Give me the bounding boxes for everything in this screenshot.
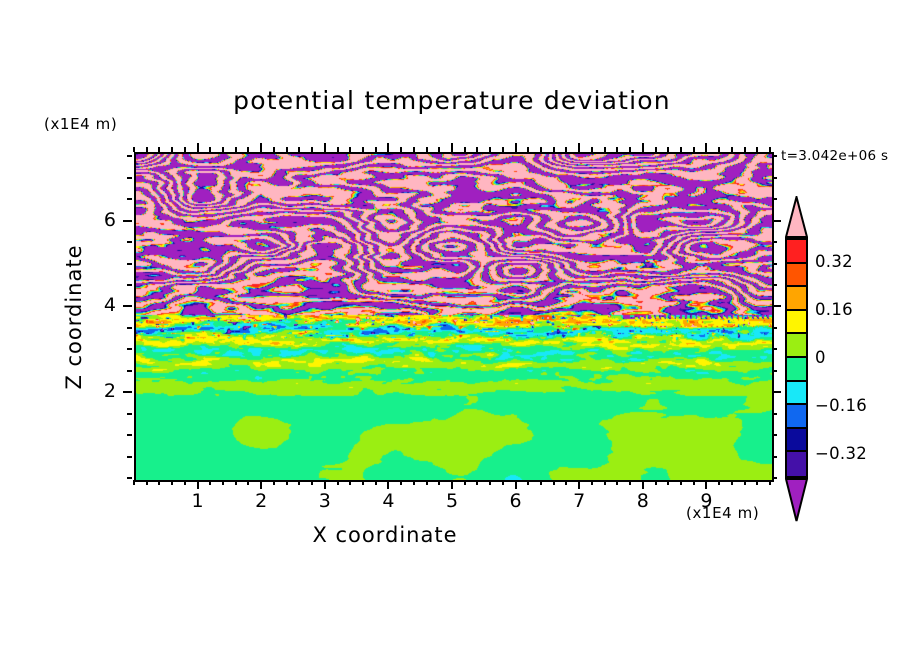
x-axis-minor-tick <box>489 480 491 485</box>
x-axis-minor-tick-top <box>476 147 478 152</box>
x-axis-minor-tick-top <box>591 147 593 152</box>
x-axis-major-tick-top <box>197 143 199 152</box>
x-axis-minor-tick-top <box>629 147 631 152</box>
y-axis-tick-label: 2 <box>86 380 116 402</box>
x-axis-minor-tick-top <box>527 147 529 152</box>
page-title: potential temperature deviation <box>0 86 904 115</box>
x-axis-major-tick <box>705 480 707 489</box>
x-axis-title: X coordinate <box>0 523 770 547</box>
y-axis-major-tick-right <box>772 391 781 393</box>
x-axis-minor-tick <box>553 480 555 485</box>
x-axis-minor-tick-top <box>184 147 186 152</box>
y-axis-title: Z coordinate <box>62 217 86 417</box>
y-axis-minor-tick-right <box>772 241 777 243</box>
x-axis-minor-tick-top <box>464 147 466 152</box>
x-axis-minor-tick <box>565 480 567 485</box>
x-axis-tick-label: 2 <box>246 490 276 512</box>
x-axis-minor-tick-top <box>426 147 428 152</box>
x-axis-major-tick <box>260 480 262 489</box>
x-axis-tick-label: 5 <box>437 490 467 512</box>
y-axis-minor-tick-right <box>772 434 777 436</box>
x-axis-minor-tick <box>604 480 606 485</box>
x-axis-major-tick <box>324 480 326 489</box>
y-axis-minor-tick-right <box>772 348 777 350</box>
x-axis-tick-label: 6 <box>501 490 531 512</box>
y-axis-minor-tick-right <box>772 284 777 286</box>
y-axis-minor-tick-right <box>772 155 777 157</box>
x-axis-major-tick-top <box>324 143 326 152</box>
y-axis-minor-tick <box>127 263 132 265</box>
x-axis-minor-tick <box>375 480 377 485</box>
y-axis-minor-tick-right <box>772 456 777 458</box>
x-axis-minor-tick <box>209 480 211 485</box>
time-annotation: t=3.042e+06 s <box>781 148 888 164</box>
x-axis-major-tick <box>642 480 644 489</box>
y-axis-minor-tick <box>127 327 132 329</box>
colorbar-band <box>787 264 806 288</box>
x-axis-minor-tick <box>680 480 682 485</box>
x-axis-minor-tick-top <box>298 147 300 152</box>
x-axis-major-tick-top <box>387 143 389 152</box>
x-axis-minor-tick <box>667 480 669 485</box>
y-axis-minor-tick <box>127 413 132 415</box>
x-axis-minor-tick-top <box>146 147 148 152</box>
x-axis-minor-tick <box>426 480 428 485</box>
x-axis-minor-tick <box>298 480 300 485</box>
colorbar-band <box>787 358 806 382</box>
x-axis-minor-tick-top <box>171 147 173 152</box>
x-axis-minor-tick <box>133 480 135 485</box>
x-axis-minor-tick <box>540 480 542 485</box>
y-axis-minor-tick <box>127 177 132 179</box>
y-axis-minor-tick-right <box>772 413 777 415</box>
x-axis-minor-tick <box>413 480 415 485</box>
x-axis-minor-tick <box>438 480 440 485</box>
x-axis-minor-tick-top <box>286 147 288 152</box>
y-axis-minor-tick-right <box>772 263 777 265</box>
colorbar-band <box>787 452 806 476</box>
y-axis-minor-tick <box>127 241 132 243</box>
x-axis-minor-tick <box>146 480 148 485</box>
colorbar-tick-label: −0.16 <box>815 396 867 415</box>
x-axis-minor-tick-top <box>769 147 771 152</box>
x-axis-minor-tick <box>744 480 746 485</box>
y-axis-minor-tick-right <box>772 370 777 372</box>
x-axis-minor-tick <box>616 480 618 485</box>
y-axis-major-tick <box>123 391 132 393</box>
y-axis-major-tick <box>123 305 132 307</box>
x-axis-minor-tick-top <box>718 147 720 152</box>
x-axis-tick-label: 4 <box>373 490 403 512</box>
y-axis-minor-tick-right <box>772 177 777 179</box>
x-axis-minor-tick <box>756 480 758 485</box>
x-axis-minor-tick-top <box>273 147 275 152</box>
colorbar-tick-label: 0.16 <box>815 300 853 319</box>
x-axis-minor-tick <box>311 480 313 485</box>
x-axis-minor-tick-top <box>362 147 364 152</box>
colorbar-band <box>787 405 806 429</box>
colorbar-bands <box>785 238 808 478</box>
colorbar-under-arrow-icon <box>785 478 808 522</box>
x-axis-minor-tick <box>362 480 364 485</box>
x-axis-minor-tick-top <box>349 147 351 152</box>
x-axis-minor-tick-top <box>413 147 415 152</box>
x-axis-minor-tick-top <box>540 147 542 152</box>
x-axis-minor-tick <box>235 480 237 485</box>
y-axis-minor-tick <box>127 198 132 200</box>
y-axis-minor-tick-right <box>772 327 777 329</box>
heatmap-field <box>136 154 772 480</box>
x-axis-minor-tick <box>591 480 593 485</box>
y-axis-minor-tick <box>127 456 132 458</box>
colorbar-band <box>787 382 806 406</box>
x-axis-minor-tick <box>769 480 771 485</box>
x-axis-minor-tick <box>273 480 275 485</box>
colorbar-band <box>787 240 806 264</box>
x-axis-minor-tick-top <box>158 147 160 152</box>
x-axis-minor-tick-top <box>680 147 682 152</box>
x-axis-major-tick <box>197 480 199 489</box>
x-axis-minor-tick <box>655 480 657 485</box>
colorbar-band <box>787 429 806 453</box>
x-axis-minor-tick <box>693 480 695 485</box>
x-axis-minor-tick-top <box>553 147 555 152</box>
x-axis-minor-tick <box>400 480 402 485</box>
x-axis-minor-tick-top <box>667 147 669 152</box>
x-axis-minor-tick-top <box>655 147 657 152</box>
y-axis-major-tick <box>123 220 132 222</box>
x-axis-major-tick-top <box>578 143 580 152</box>
x-axis-minor-tick <box>349 480 351 485</box>
x-axis-tick-label: 1 <box>183 490 213 512</box>
x-axis-minor-tick <box>731 480 733 485</box>
colorbar-band <box>787 287 806 311</box>
x-axis-minor-tick-top <box>489 147 491 152</box>
y-axis-minor-tick <box>127 477 132 479</box>
x-axis-minor-tick <box>158 480 160 485</box>
x-axis-minor-tick-top <box>693 147 695 152</box>
y-axis-tick-label: 4 <box>86 294 116 316</box>
x-axis-minor-tick-top <box>235 147 237 152</box>
x-axis-minor-tick-top <box>209 147 211 152</box>
x-axis-minor-tick-top <box>133 147 135 152</box>
y-axis-unit-label: (x1E4 m) <box>44 115 117 133</box>
x-axis-minor-tick-top <box>502 147 504 152</box>
y-axis-minor-tick <box>127 348 132 350</box>
x-axis-minor-tick <box>222 480 224 485</box>
colorbar[interactable]: 0.320.160−0.16−0.32 <box>783 196 823 526</box>
x-axis-minor-tick <box>464 480 466 485</box>
x-axis-minor-tick-top <box>744 147 746 152</box>
x-axis-minor-tick <box>184 480 186 485</box>
x-axis-minor-tick <box>629 480 631 485</box>
x-axis-unit-label: (x1E4 m) <box>686 504 759 522</box>
x-axis-minor-tick-top <box>400 147 402 152</box>
y-axis-minor-tick <box>127 434 132 436</box>
x-axis-major-tick <box>515 480 517 489</box>
x-axis-minor-tick <box>527 480 529 485</box>
x-axis-minor-tick-top <box>616 147 618 152</box>
x-axis-major-tick-top <box>260 143 262 152</box>
colorbar-tick-label: −0.32 <box>815 444 867 463</box>
x-axis-minor-tick <box>337 480 339 485</box>
y-axis-minor-tick <box>127 155 132 157</box>
y-axis-minor-tick <box>127 284 132 286</box>
x-axis-minor-tick-top <box>247 147 249 152</box>
x-axis-minor-tick-top <box>337 147 339 152</box>
x-axis-minor-tick <box>247 480 249 485</box>
x-axis-minor-tick <box>171 480 173 485</box>
y-axis-major-tick-right <box>772 220 781 222</box>
y-axis-minor-tick-right <box>772 477 777 479</box>
x-axis-minor-tick <box>476 480 478 485</box>
x-axis-major-tick-top <box>705 143 707 152</box>
y-axis-minor-tick <box>127 370 132 372</box>
x-axis-major-tick-top <box>642 143 644 152</box>
x-axis-minor-tick-top <box>438 147 440 152</box>
x-axis-minor-tick-top <box>311 147 313 152</box>
colorbar-band <box>787 334 806 358</box>
x-axis-major-tick-top <box>515 143 517 152</box>
plot-area[interactable] <box>134 152 774 482</box>
x-axis-minor-tick-top <box>375 147 377 152</box>
x-axis-tick-label: 8 <box>628 490 658 512</box>
x-axis-major-tick <box>387 480 389 489</box>
colorbar-tick-label: 0 <box>815 348 826 367</box>
y-axis-minor-tick-right <box>772 198 777 200</box>
x-axis-major-tick-top <box>451 143 453 152</box>
x-axis-minor-tick-top <box>222 147 224 152</box>
x-axis-minor-tick-top <box>565 147 567 152</box>
x-axis-major-tick <box>578 480 580 489</box>
x-axis-minor-tick-top <box>604 147 606 152</box>
y-axis-tick-label: 6 <box>86 209 116 231</box>
x-axis-minor-tick-top <box>731 147 733 152</box>
x-axis-minor-tick <box>718 480 720 485</box>
colorbar-over-arrow-icon <box>785 196 808 238</box>
y-axis-major-tick-right <box>772 305 781 307</box>
colorbar-band <box>787 311 806 335</box>
x-axis-minor-tick <box>286 480 288 485</box>
x-axis-minor-tick-top <box>756 147 758 152</box>
x-axis-tick-label: 3 <box>310 490 340 512</box>
x-axis-major-tick <box>451 480 453 489</box>
x-axis-tick-label: 7 <box>564 490 594 512</box>
x-axis-minor-tick <box>502 480 504 485</box>
colorbar-tick-label: 0.32 <box>815 252 853 271</box>
